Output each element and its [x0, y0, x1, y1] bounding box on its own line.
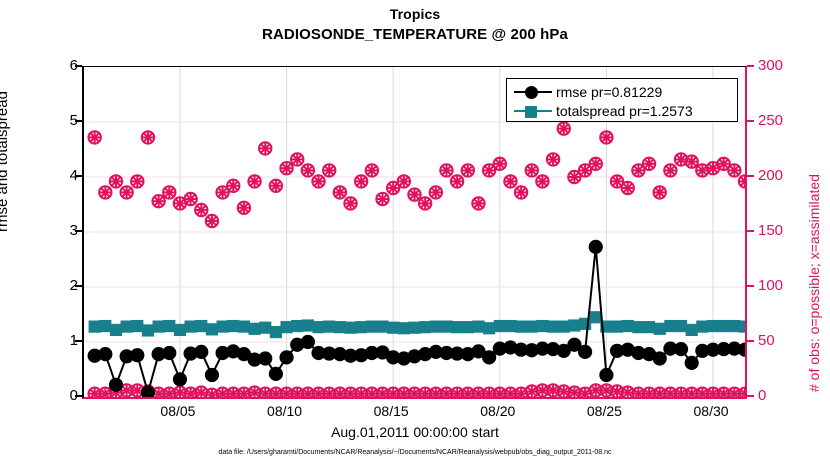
obs-marker: [227, 180, 239, 192]
series-marker-totalspread: [718, 320, 729, 331]
series-marker-rmse: [280, 351, 293, 364]
obs-marker: [312, 175, 324, 187]
series-marker-totalspread: [249, 323, 260, 334]
series-marker-totalspread: [228, 320, 239, 331]
series-marker-totalspread: [739, 321, 745, 332]
figure-root: Tropics RADIOSONDE_TEMPERATURE @ 200 hPa…: [0, 0, 830, 470]
obs-marker: [120, 186, 132, 198]
series-marker-rmse: [205, 368, 218, 381]
series-marker-totalspread: [430, 321, 441, 332]
series-marker-rmse: [483, 351, 496, 364]
obs-marker: [376, 193, 388, 205]
data-file-caption: data file: /Users/gharamti/Documents/NCA…: [0, 449, 830, 456]
obs-marker: [152, 195, 164, 207]
series-marker-totalspread: [260, 322, 271, 333]
legend-item-rmse: rmse pr=0.81229: [512, 82, 732, 101]
y-axis-left-tickmark: [75, 230, 82, 232]
y-axis-left-tick-3: 3: [38, 222, 78, 239]
chart-legend: rmse pr=0.81229 totalspread pr=1.2573: [506, 78, 738, 122]
x-axis-label: Aug.01,2011 00:00:00 start: [0, 424, 830, 440]
series-marker-rmse: [269, 367, 282, 380]
obs-marker: [622, 182, 634, 194]
series-marker-totalspread: [729, 320, 740, 331]
series-marker-rmse: [578, 345, 591, 358]
series-marker-totalspread: [633, 322, 644, 333]
series-marker-rmse: [195, 345, 208, 358]
y-axis-right-tick-150: 150: [758, 222, 804, 239]
series-marker-totalspread: [281, 322, 292, 333]
series-marker-rmse: [109, 378, 122, 391]
legend-symbol-square-icon: [512, 102, 554, 120]
series-marker-totalspread: [238, 321, 249, 332]
y-axis-right-tick-250: 250: [758, 112, 804, 129]
obs-marker: [685, 155, 697, 167]
series-marker-rmse: [259, 352, 272, 365]
y-axis-right-tick-50: 50: [758, 332, 804, 349]
series-marker-totalspread: [89, 321, 100, 332]
x-axis-tick-08-25: 08/25: [587, 403, 622, 419]
y-axis-right-tick-100: 100: [758, 277, 804, 294]
series-marker-totalspread: [388, 322, 399, 333]
y-axis-right-tickmark: [747, 175, 754, 177]
obs-marker: [280, 162, 292, 174]
series-marker-totalspread: [164, 320, 175, 331]
series-marker-totalspread: [121, 321, 132, 332]
series-marker-totalspread: [142, 325, 153, 336]
series-marker-rmse: [653, 352, 666, 365]
series-marker-totalspread: [185, 321, 196, 332]
y-axis-right-tickmark: [747, 230, 754, 232]
obs-marker: [270, 180, 282, 192]
obs-marker: [472, 197, 484, 209]
x-axis-tick-08-30: 08/30: [693, 403, 728, 419]
legend-item-totalspread: totalspread pr=1.2573: [512, 101, 732, 120]
series-marker-totalspread: [196, 320, 207, 331]
obs-marker: [248, 175, 260, 187]
series-marker-totalspread: [398, 323, 409, 334]
series-marker-totalspread: [356, 322, 367, 333]
obs-marker: [206, 215, 218, 227]
series-marker-totalspread: [302, 320, 313, 331]
obs-marker: [366, 164, 378, 176]
y-axis-right-tickmark: [747, 120, 754, 122]
series-marker-totalspread: [206, 324, 217, 335]
obs-marker: [600, 131, 612, 143]
series-marker-rmse: [131, 349, 144, 362]
obs-marker: [259, 142, 271, 154]
series-marker-totalspread: [665, 320, 676, 331]
series-marker-totalspread: [110, 324, 121, 335]
obs-marker: [344, 197, 356, 209]
obs-marker: [110, 175, 122, 187]
series-marker-totalspread: [452, 322, 463, 333]
series-marker-totalspread: [484, 323, 495, 334]
y-axis-left-tickmark: [75, 340, 82, 342]
obs-marker: [419, 197, 431, 209]
series-marker-totalspread: [505, 320, 516, 331]
series-marker-totalspread: [462, 322, 473, 333]
obs-marker: [142, 131, 154, 143]
series-marker-totalspread: [686, 324, 697, 335]
legend-symbol-circle-icon: [512, 83, 554, 101]
series-marker-rmse: [674, 343, 687, 356]
y-axis-left-tick-5: 5: [38, 112, 78, 129]
series-marker-totalspread: [611, 321, 622, 332]
series-marker-totalspread: [366, 321, 377, 332]
chart-title-main: Tropics: [0, 4, 830, 24]
y-axis-left-tickmark: [75, 65, 82, 67]
y-axis-right-tick-200: 200: [758, 167, 804, 184]
obs-marker: [643, 158, 655, 170]
obs-marker: [408, 188, 420, 200]
x-axis-tick-08-15: 08/15: [374, 403, 409, 419]
series-marker-rmse: [600, 368, 613, 381]
y-axis-left-tickmark: [75, 120, 82, 122]
obs-marker: [654, 186, 666, 198]
series-marker-rmse: [163, 346, 176, 359]
legend-label-rmse: rmse pr=0.81229: [554, 84, 662, 100]
series-marker-totalspread: [643, 322, 654, 333]
obs-marker: [238, 202, 250, 214]
series-marker-totalspread: [420, 322, 431, 333]
obs-marker: [195, 204, 207, 216]
obs-marker: [88, 131, 100, 143]
y-axis-right-label: # of obs: o=possible; x=assimilated: [806, 174, 822, 392]
series-marker-totalspread: [345, 322, 356, 333]
series-marker-totalspread: [675, 320, 686, 331]
series-marker-totalspread: [409, 322, 420, 333]
series-marker-totalspread: [473, 321, 484, 332]
y-axis-left-tick-1: 1: [38, 332, 78, 349]
series-marker-totalspread: [324, 321, 335, 332]
series-marker-totalspread: [516, 321, 527, 332]
y-axis-left-tick-6: 6: [38, 57, 78, 74]
series-marker-rmse: [685, 356, 698, 369]
series-marker-totalspread: [558, 321, 569, 332]
series-marker-totalspread: [313, 322, 324, 333]
obs-marker: [355, 175, 367, 187]
obs-marker: [462, 164, 474, 176]
x-axis-tick-08-10: 08/10: [267, 403, 302, 419]
series-marker-totalspread: [377, 321, 388, 332]
y-axis-left-tickmark: [75, 175, 82, 177]
series-marker-rmse: [99, 348, 112, 361]
obs-marker: [504, 175, 516, 187]
obs-marker: [430, 186, 442, 198]
series-marker-totalspread: [132, 320, 143, 331]
series-marker-totalspread: [153, 321, 164, 332]
chart-title-block: Tropics RADIOSONDE_TEMPERATURE @ 200 hPa: [0, 4, 830, 45]
obs-marker: [451, 175, 463, 187]
series-marker-totalspread: [590, 312, 601, 323]
series-marker-rmse: [173, 373, 186, 386]
obs-marker: [547, 153, 559, 165]
obs-marker: [590, 158, 602, 170]
series-marker-totalspread: [292, 320, 303, 331]
x-axis-tick-08-05: 08/05: [160, 403, 195, 419]
obs-marker: [728, 164, 740, 176]
x-axis-tick-08-20: 08/20: [480, 403, 515, 419]
series-marker-rmse: [141, 386, 154, 397]
series-marker-totalspread: [526, 321, 537, 332]
y-axis-left-tick-2: 2: [38, 277, 78, 294]
obs-marker: [494, 158, 506, 170]
series-marker-totalspread: [334, 322, 345, 333]
obs-marker: [398, 175, 410, 187]
y-axis-left-tickmark: [75, 285, 82, 287]
chart-title-sub: RADIOSONDE_TEMPERATURE @ 200 hPa: [0, 24, 830, 45]
y-axis-right-tickmark: [747, 340, 754, 342]
series-marker-totalspread: [569, 320, 580, 331]
y-axis-right-tickmark: [747, 285, 754, 287]
obs-marker: [302, 164, 314, 176]
y-axis-right-tick-0: 0: [758, 387, 804, 404]
y-axis-right-tickmark: [747, 395, 754, 397]
series-marker-totalspread: [100, 320, 111, 331]
y-axis-left-tickmark: [75, 395, 82, 397]
series-marker-rmse: [301, 335, 314, 348]
series-marker-totalspread: [174, 324, 185, 335]
obs-marker: [184, 193, 196, 205]
series-marker-totalspread: [707, 320, 718, 331]
series-marker-totalspread: [494, 320, 505, 331]
obs-marker: [739, 175, 745, 187]
obs-marker: [558, 122, 570, 134]
obs-marker: [664, 164, 676, 176]
y-axis-left-tick-4: 4: [38, 167, 78, 184]
y-axis-left-tick-0: 0: [38, 387, 78, 404]
series-marker-rmse: [589, 240, 602, 253]
obs-marker: [99, 186, 111, 198]
y-axis-right-tick-300: 300: [758, 57, 804, 74]
series-marker-totalspread: [441, 321, 452, 332]
y-axis-right-tickmark: [747, 65, 754, 67]
series-marker-totalspread: [654, 323, 665, 334]
obs-marker: [739, 388, 745, 398]
obs-marker: [440, 164, 452, 176]
series-marker-totalspread: [537, 320, 548, 331]
obs-marker: [536, 175, 548, 187]
series-line-rmse: [95, 247, 745, 393]
obs-marker: [526, 164, 538, 176]
obs-marker: [515, 186, 527, 198]
obs-marker: [323, 164, 335, 176]
series-marker-totalspread: [697, 321, 708, 332]
legend-label-totalspread: totalspread pr=1.2573: [554, 103, 693, 119]
series-marker-totalspread: [217, 321, 228, 332]
y-axis-left-label: rmse and totalspread: [0, 91, 11, 232]
series-marker-totalspread: [622, 320, 633, 331]
series-marker-totalspread: [547, 321, 558, 332]
obs-marker: [163, 186, 175, 198]
obs-marker: [291, 153, 303, 165]
obs-marker: [131, 175, 143, 187]
series-marker-totalspread: [270, 327, 281, 338]
obs-marker: [334, 186, 346, 198]
